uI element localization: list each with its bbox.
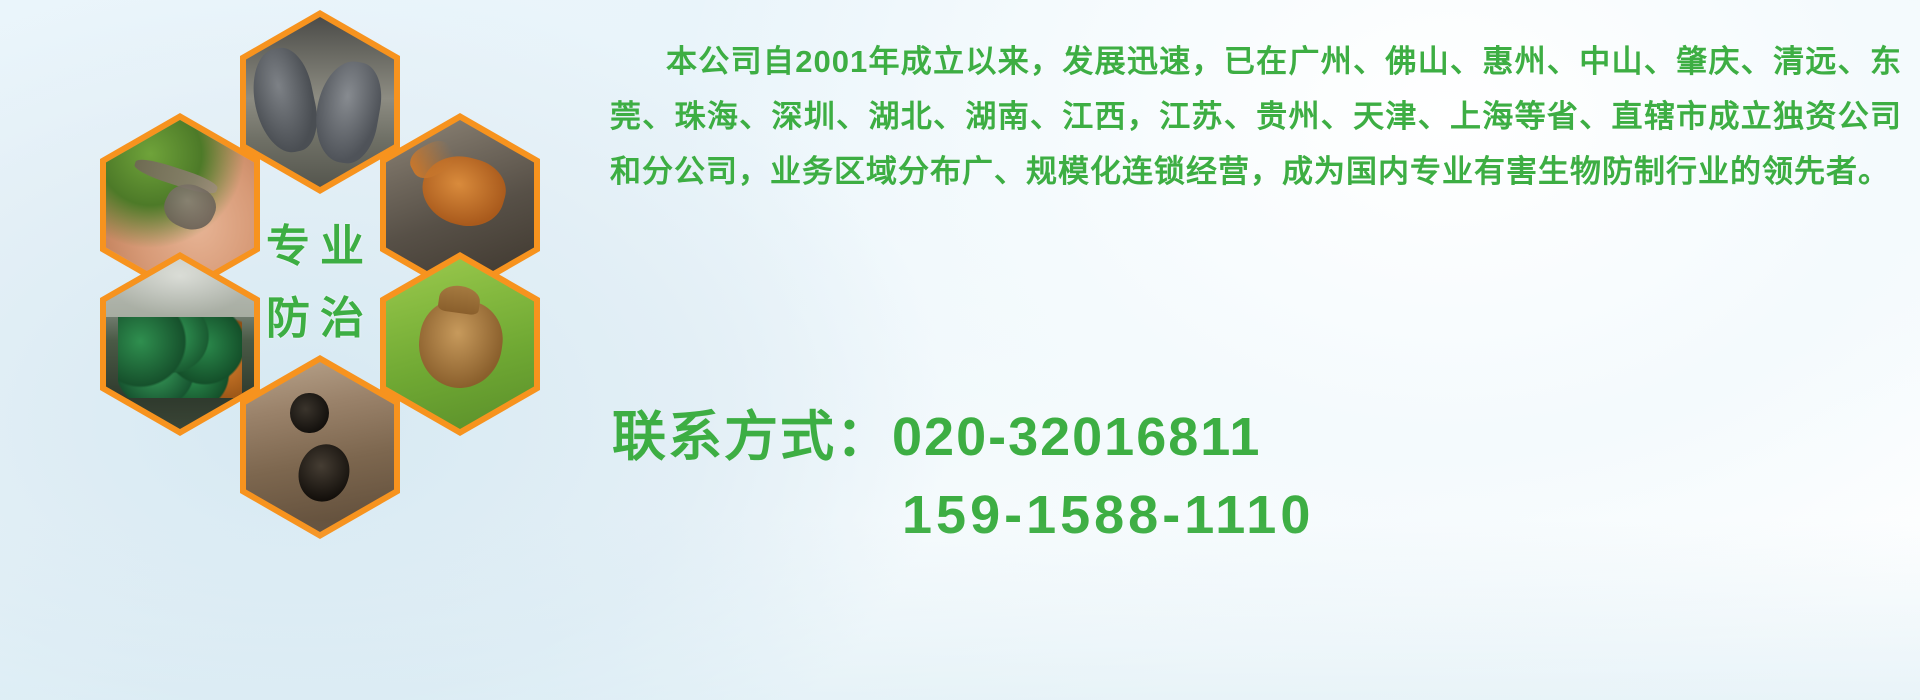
- intro-copy-block: 本公司自2001年成立以来，发展迅速，已在广州、佛山、惠州、中山、肇庆、清远、东…: [610, 34, 1910, 199]
- badge-text-line2: 防治: [235, 282, 405, 346]
- rats-photo: [240, 10, 400, 194]
- badge-text-line1: 专业: [235, 210, 405, 274]
- ant-photo: [240, 355, 400, 539]
- flies-photo-image: [106, 259, 254, 429]
- contact-phone-primary[interactable]: 联系方式：020-32016811: [612, 398, 1912, 476]
- ant-photo-image: [246, 362, 394, 532]
- hex-photo-cluster: 专业 防治: [100, 10, 580, 570]
- rats-photo-image: [246, 17, 394, 187]
- contact-block: 联系方式：020-32016811 159-1588-1110: [612, 398, 1912, 554]
- stink-bug-photo-image: [386, 259, 534, 429]
- contact-phone-secondary[interactable]: 159-1588-1110: [612, 476, 1912, 554]
- promotional-banner: 专业 防治 本公司自2001年成立以来，发展迅速，已在广州、佛山、惠州、中山、肇…: [0, 0, 1920, 700]
- intro-paragraph: 本公司自2001年成立以来，发展迅速，已在广州、佛山、惠州、中山、肇庆、清远、东…: [610, 34, 1902, 199]
